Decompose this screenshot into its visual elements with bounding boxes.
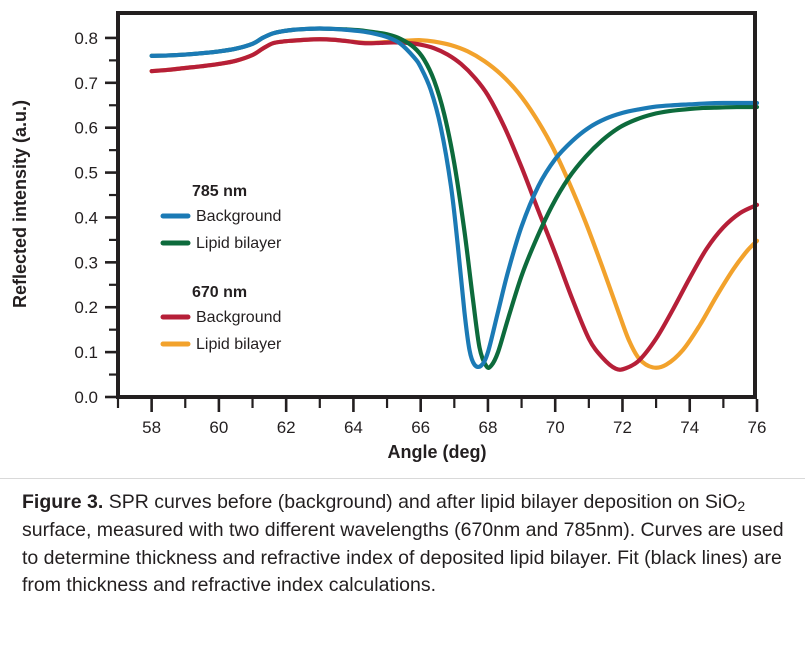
x-tick-label: 74	[680, 418, 699, 437]
legend-heading-1: 785 nm	[192, 183, 247, 200]
legend-heading-2: 670 nm	[192, 284, 247, 301]
legend-label-lipid785: Lipid bilayer	[196, 235, 282, 252]
figure-3-container: 0.00.10.20.30.40.50.60.70.8 586062646668…	[0, 0, 805, 649]
y-tick-label: 0.4	[74, 208, 98, 227]
x-axis-tick-labels: 58606264666870727476	[142, 418, 766, 437]
y-tick-label: 0.1	[74, 343, 98, 362]
x-tick-label: 58	[142, 418, 161, 437]
caption-divider	[0, 478, 805, 479]
y-tick-label: 0.2	[74, 298, 98, 317]
x-tick-label: 72	[613, 418, 632, 437]
x-tick-label: 60	[209, 418, 228, 437]
x-tick-label: 66	[411, 418, 430, 437]
y-tick-label: 0.0	[74, 388, 98, 407]
spr-curves-chart: 0.00.10.20.30.40.50.60.70.8 586062646668…	[0, 0, 805, 478]
x-tick-label: 64	[344, 418, 363, 437]
legend-label-bg670: Background	[196, 309, 281, 326]
y-axis-tick-labels: 0.00.10.20.30.40.50.60.70.8	[74, 29, 98, 407]
caption-text-part-1: SPR curves before (background) and after…	[103, 491, 737, 513]
y-tick-label: 0.3	[74, 253, 98, 272]
caption-figure-number: Figure 3.	[22, 491, 103, 513]
y-axis-major-ticks	[105, 38, 116, 397]
y-tick-label: 0.5	[74, 164, 98, 183]
legend-label-lipid670: Lipid bilayer	[196, 336, 282, 353]
y-tick-label: 0.6	[74, 119, 98, 138]
caption-text-part-2: surface, measured with two different wav…	[22, 519, 784, 596]
x-tick-label: 70	[546, 418, 565, 437]
chart-svg: 0.00.10.20.30.40.50.60.70.8 586062646668…	[0, 0, 805, 478]
y-axis-title: Reflected intensity (a.u.)	[10, 100, 30, 308]
x-tick-label: 76	[748, 418, 767, 437]
y-tick-label: 0.7	[74, 74, 98, 93]
figure-caption: Figure 3. SPR curves before (background)…	[22, 489, 784, 600]
x-axis-title: Angle (deg)	[388, 442, 487, 462]
x-tick-label: 62	[277, 418, 296, 437]
y-tick-label: 0.8	[74, 29, 98, 48]
caption-subscript: 2	[737, 498, 745, 514]
x-tick-label: 68	[478, 418, 497, 437]
legend-label-bg785: Background	[196, 208, 281, 225]
